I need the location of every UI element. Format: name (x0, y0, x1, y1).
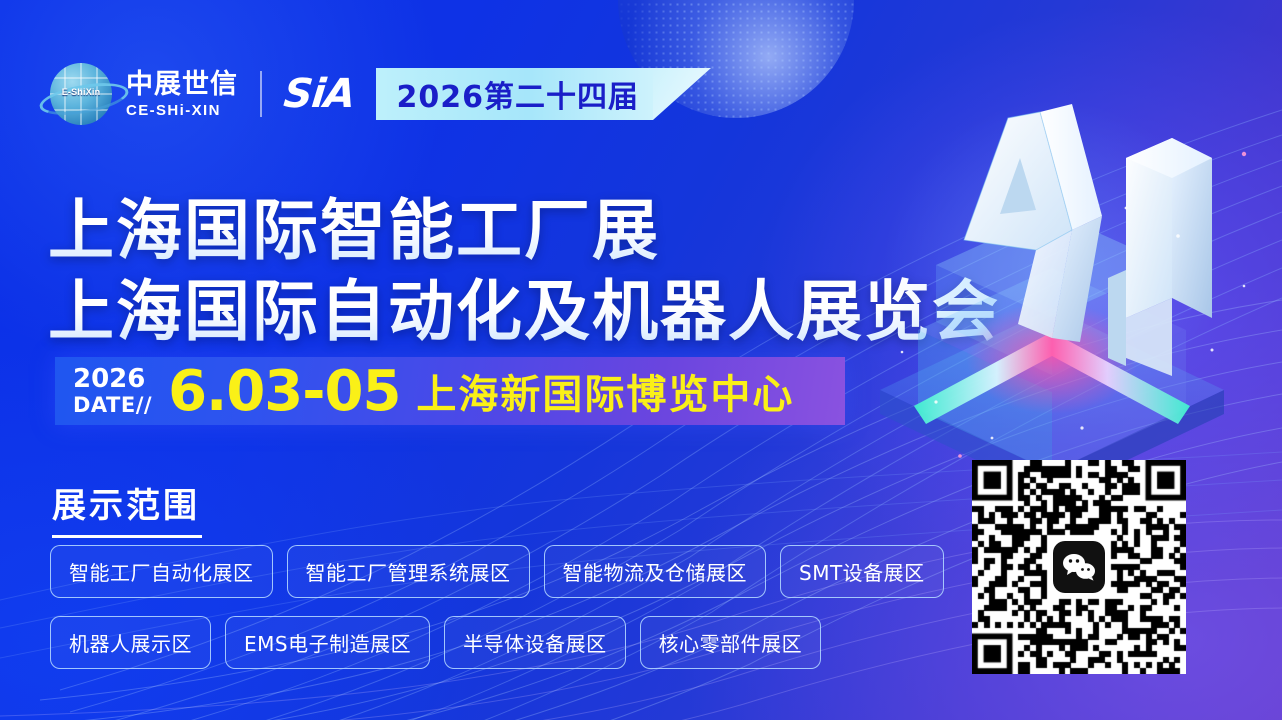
wechat-icon (1053, 541, 1105, 593)
scope-tag[interactable]: 智能物流及仓储展区 (544, 545, 767, 598)
edition-badge-tail (653, 68, 711, 120)
date-year: 2026 (73, 366, 152, 392)
company-name-en: CE-SHi-XIN (126, 103, 238, 118)
scope-tag[interactable]: SMT设备展区 (780, 545, 944, 598)
scope-tag-list: 智能工厂自动化展区智能工厂管理系统展区智能物流及仓储展区SMT设备展区机器人展示… (50, 545, 850, 687)
scope-heading-underline (52, 535, 202, 538)
scope-tag[interactable]: 智能工厂管理系统展区 (287, 545, 530, 598)
scope-heading-text: 展示范围 (52, 478, 202, 527)
scope-tag-row: 智能工厂自动化展区智能工厂管理系统展区智能物流及仓储展区SMT设备展区 (50, 545, 850, 598)
globe-icon: E-ShiXin (50, 63, 112, 125)
sia-logo: SiA (282, 71, 357, 117)
edition-badge-label: 2026第二十四届 (396, 72, 639, 116)
wechat-qr-code[interactable] (972, 460, 1186, 674)
scope-tag[interactable]: 半导体设备展区 (444, 616, 626, 669)
date-year-block: 2026 DATE// (73, 366, 152, 416)
ai-3d-artwork (840, 90, 1270, 490)
date-label: DATE// (73, 395, 152, 416)
scope-tag[interactable]: EMS电子制造展区 (225, 616, 430, 669)
globe-label: E-ShiXin (52, 87, 110, 97)
company-name-cn: 中展世信 (126, 71, 238, 98)
scope-tag[interactable]: 智能工厂自动化展区 (50, 545, 273, 598)
venue-name: 上海新国际博览中心 (416, 362, 794, 420)
header-logo-bar: E-ShiXin 中展世信 CE-SHi-XIN SiA 2026第二十四届 (50, 54, 711, 134)
scope-tag[interactable]: 核心零部件展区 (640, 616, 822, 669)
logo-divider (260, 71, 262, 117)
scope-tag[interactable]: 机器人展示区 (50, 616, 211, 669)
edition-badge: 2026第二十四届 (376, 68, 711, 120)
company-logo-text: 中展世信 CE-SHi-XIN (126, 71, 238, 118)
scope-tag-row: 机器人展示区EMS电子制造展区半导体设备展区核心零部件展区 (50, 616, 850, 669)
date-range: 6.03-05 (168, 359, 400, 424)
promo-banner: E-ShiXin 中展世信 CE-SHi-XIN SiA 2026第二十四届 上… (0, 0, 1282, 720)
edition-badge-body: 2026第二十四届 (376, 68, 653, 120)
scope-heading: 展示范围 (52, 478, 202, 538)
date-venue-bar: 2026 DATE// 6.03-05 上海新国际博览中心 (55, 357, 845, 425)
